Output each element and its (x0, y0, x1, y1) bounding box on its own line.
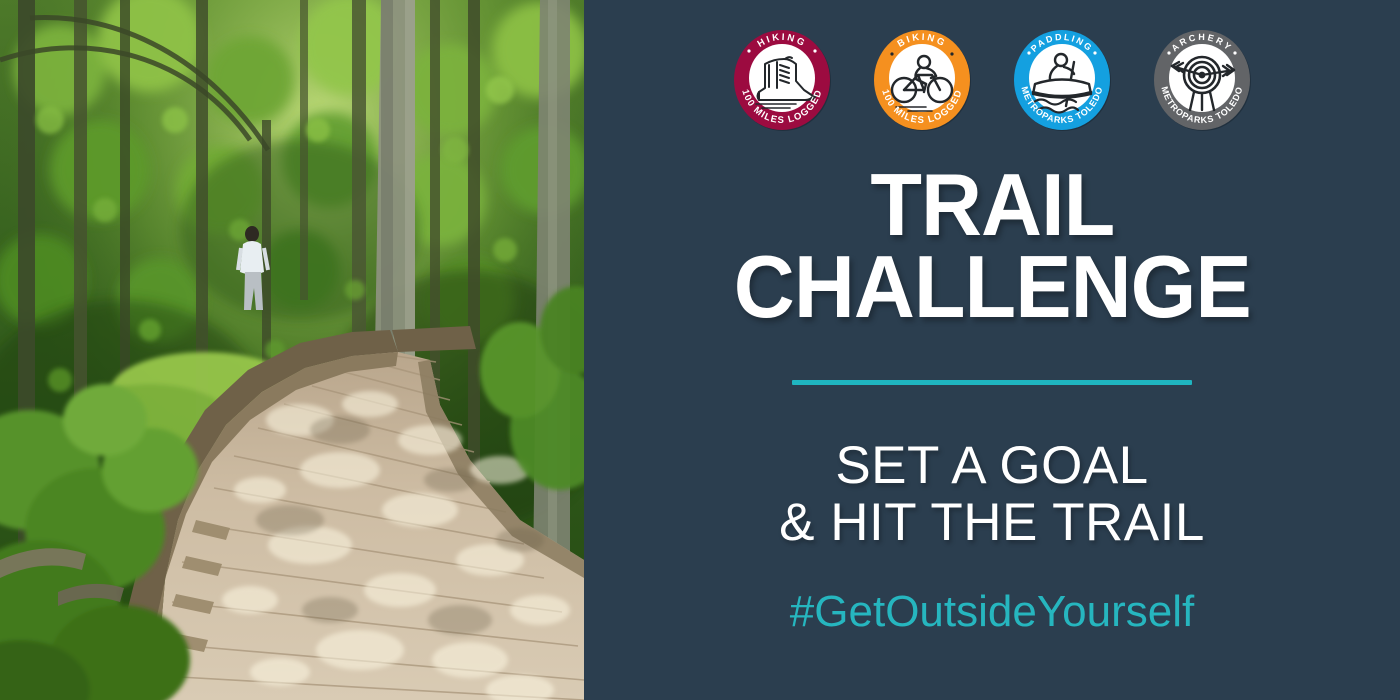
title-line-2: CHALLENGE (733, 246, 1250, 328)
subtitle-line-2: & HIT THE TRAIL (779, 494, 1205, 551)
title-line-1: TRAIL (733, 164, 1250, 246)
hashtag: #GetOutsideYourself (790, 587, 1194, 637)
subtitle-line-1: SET A GOAL (779, 437, 1205, 494)
badge-hiking-svg: HIKING 100 MILES LOGGED (722, 18, 842, 142)
page-title: TRAIL CHALLENGE (723, 164, 1262, 328)
badge-hiking: HIKING 100 MILES LOGGED (722, 18, 842, 142)
badge-paddling: PADDLING METROPARKS TOLEDO (1002, 18, 1122, 142)
photo-illustration (0, 0, 584, 700)
trail-challenge-banner: HIKING 100 MILES LOGGED (0, 0, 1400, 700)
content-panel: HIKING 100 MILES LOGGED (584, 0, 1400, 700)
forest-boardwalk-photo (0, 0, 584, 700)
badge-biking-svg: BIKING 100 MILES LOGGED (862, 18, 982, 142)
badge-archery-svg: ARCHERY METROPARKS TOLEDO (1142, 18, 1262, 142)
badge-row: HIKING 100 MILES LOGGED (722, 18, 1262, 142)
subtitle: SET A GOAL & HIT THE TRAIL (779, 437, 1205, 551)
badge-archery: ARCHERY METROPARKS TOLEDO (1142, 18, 1262, 142)
badge-paddling-svg: PADDLING METROPARKS TOLEDO (1002, 18, 1122, 142)
accent-divider (792, 380, 1192, 385)
badge-biking: BIKING 100 MILES LOGGED (862, 18, 982, 142)
